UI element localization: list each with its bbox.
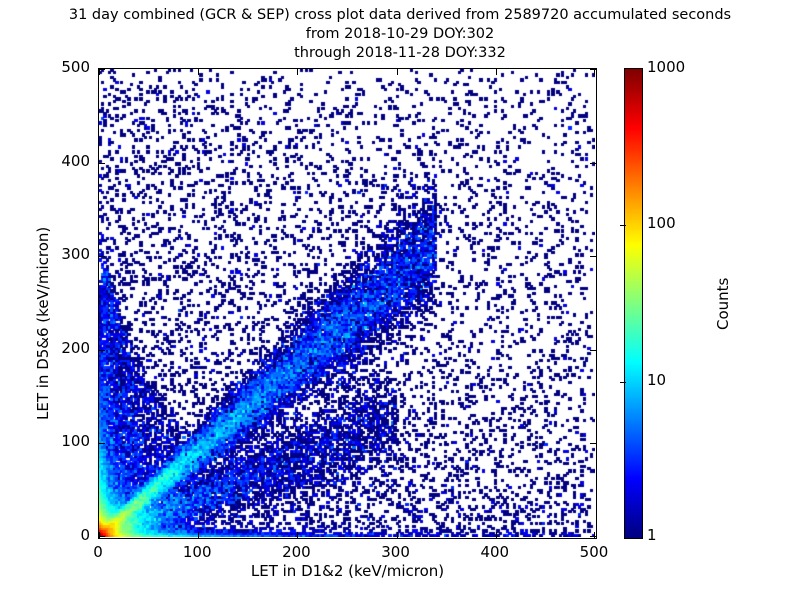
colorbar-tick-10 (620, 382, 626, 383)
let-cross-plot-heatmap (99, 69, 595, 537)
x-tick-top-300 (397, 69, 398, 75)
x-tick-label-200: 200 (266, 543, 326, 561)
chart-title-line-2: from 2018-10-29 DOY:302 (0, 25, 800, 44)
x-tick-top-500 (594, 69, 595, 75)
y-tick-right-200 (590, 350, 596, 351)
y-tick-label-500: 500 (30, 58, 90, 76)
x-tick-label-300: 300 (366, 543, 426, 561)
x-tick-0 (99, 532, 100, 538)
y-tick-right-100 (590, 443, 596, 444)
x-tick-label-100: 100 (167, 543, 227, 561)
colorbar-label-10: 10 (647, 371, 666, 389)
x-tick-400 (496, 532, 497, 538)
x-tick-label-400: 400 (465, 543, 525, 561)
x-tick-500 (594, 532, 595, 538)
x-axis-title: LET in D1&2 (keV/micron) (98, 562, 597, 580)
y-tick-label-0: 0 (30, 526, 90, 544)
chart-title-line-1: 31 day combined (GCR & SEP) cross plot d… (0, 6, 800, 25)
y-tick-right-0 (590, 536, 596, 537)
x-tick-300 (397, 532, 398, 538)
colorbar-label-1000: 1000 (647, 58, 685, 76)
y-tick-label-100: 100 (30, 432, 90, 450)
y-tick-200 (99, 350, 105, 351)
colorbar-tick-100 (620, 225, 626, 226)
y-tick-100 (99, 443, 105, 444)
colorbar-label-100: 100 (647, 214, 676, 232)
y-tick-400 (99, 163, 105, 164)
x-tick-top-0 (99, 69, 100, 75)
plot-area (98, 68, 597, 539)
x-tick-200 (297, 532, 298, 538)
y-tick-right-400 (590, 163, 596, 164)
x-tick-100 (198, 532, 199, 538)
y-tick-right-300 (590, 256, 596, 257)
colorbar-label-1: 1 (647, 526, 657, 544)
chart-title: 31 day combined (GCR & SEP) cross plot d… (0, 6, 800, 63)
y-tick-label-400: 400 (30, 152, 90, 170)
colorbar-gradient (625, 69, 642, 538)
x-tick-top-400 (496, 69, 497, 75)
y-tick-300 (99, 256, 105, 257)
colorbar (624, 68, 643, 539)
x-tick-label-500: 500 (564, 543, 624, 561)
y-tick-right-500 (590, 69, 596, 70)
x-tick-top-100 (198, 69, 199, 75)
colorbar-title: Counts (714, 278, 732, 330)
y-axis-title: LET in D5&6 (keV/micron) (34, 227, 52, 420)
x-tick-top-200 (297, 69, 298, 75)
x-tick-label-0: 0 (68, 543, 128, 561)
